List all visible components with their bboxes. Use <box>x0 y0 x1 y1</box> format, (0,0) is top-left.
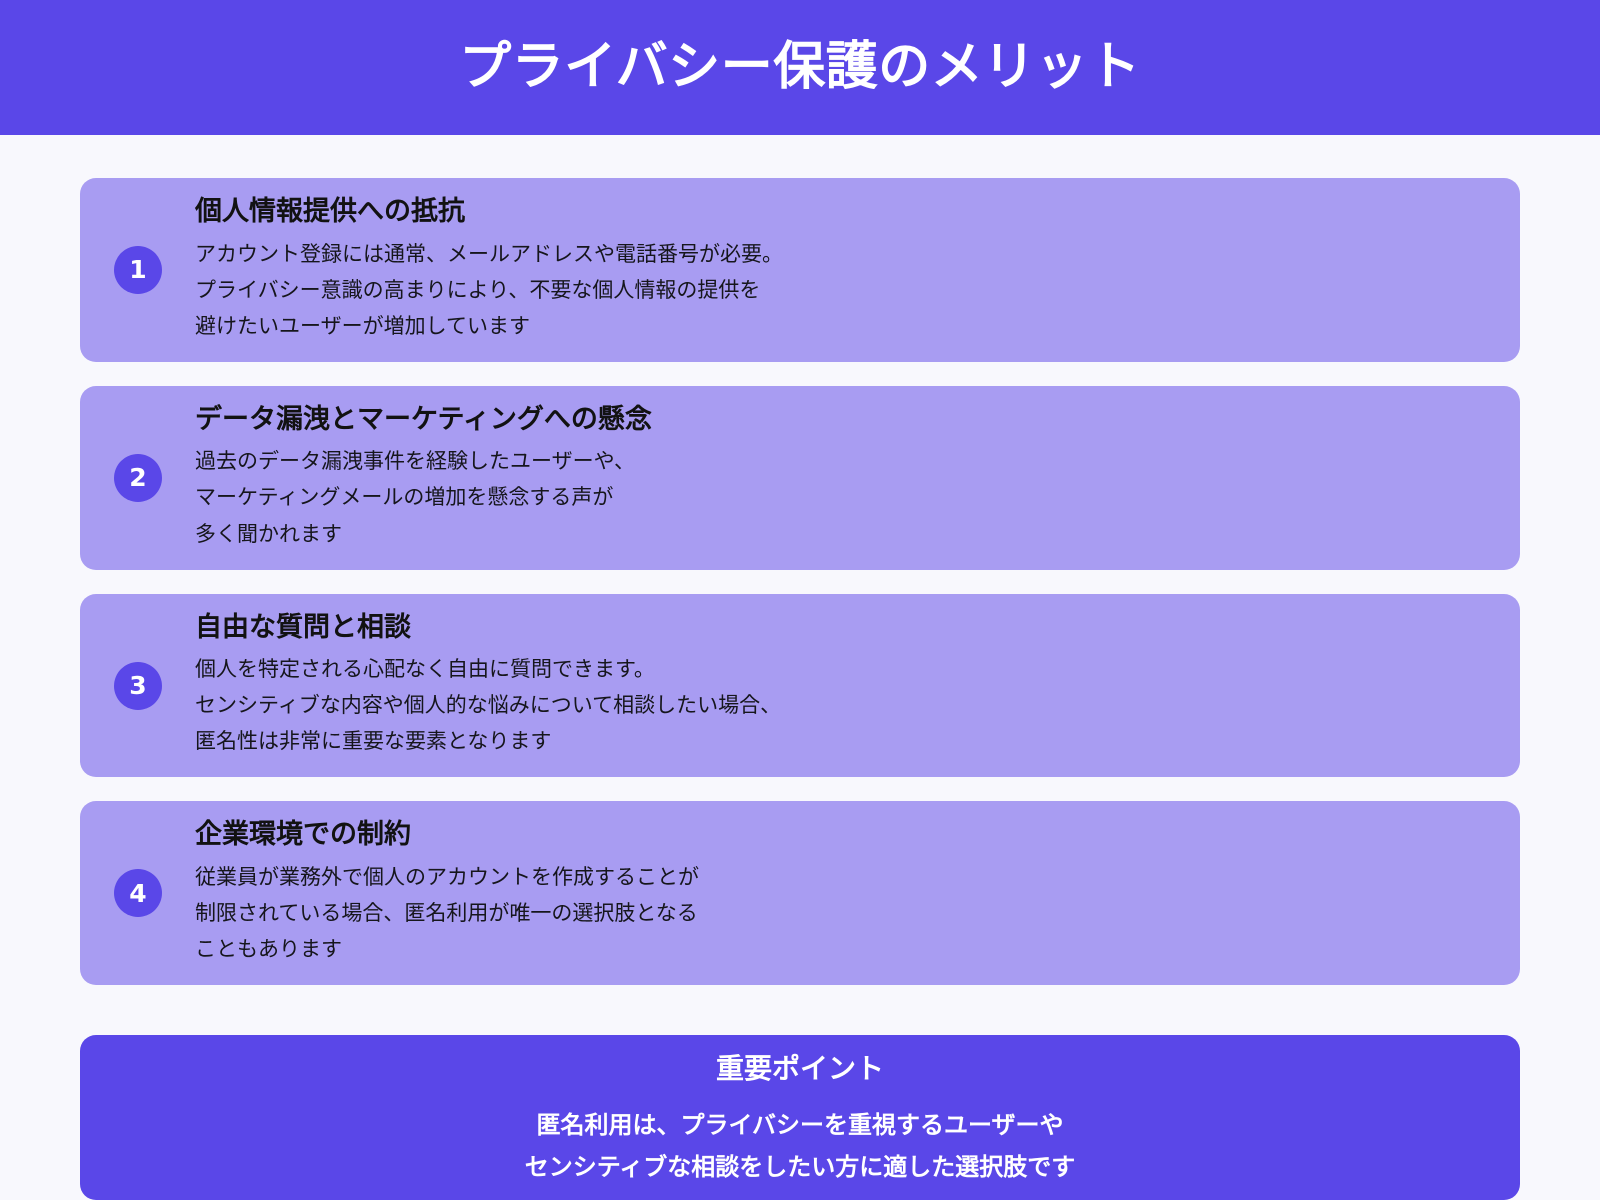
key-point-box: 重要ポイント 匿名利用は、プライバシーを重視するユーザーや センシティブな相談を… <box>80 1035 1520 1200</box>
card-body-2: 過去のデータ漏洩事件を経験したユーザーや、 マーケティングメールの増加を懸念する… <box>195 443 1492 551</box>
card-title-3: 自由な質問と相談 <box>195 608 1492 649</box>
infographic-page: プライバシー保護のメリット 1 個人情報提供への抵抗 アカウント登録には通常、メ… <box>0 0 1600 1200</box>
benefit-card-1[interactable]: 1 個人情報提供への抵抗 アカウント登録には通常、メールアドレスや電話番号が必要… <box>80 178 1520 362</box>
benefit-card-3[interactable]: 3 自由な質問と相談 個人を特定される心配なく自由に質問できます。 センシティブ… <box>80 594 1520 778</box>
page-title: プライバシー保護のメリット <box>459 39 1140 96</box>
card-body-3: 個人を特定される心配なく自由に質問できます。 センシティブな内容や個人的な悩みに… <box>195 651 1492 759</box>
card-title-1: 個人情報提供への抵抗 <box>195 192 1492 233</box>
key-point-title: 重要ポイント <box>716 1048 884 1090</box>
card-number-badge-3: 3 <box>114 662 162 710</box>
card-number-badge-2: 2 <box>114 454 162 502</box>
card-title-4: 企業環境での制約 <box>195 815 1492 856</box>
key-point-body: 匿名利用は、プライバシーを重視するユーザーや センシティブな相談をしたい方に適し… <box>525 1104 1076 1188</box>
benefit-card-4[interactable]: 4 企業環境での制約 従業員が業務外で個人のアカウントを作成することが 制限され… <box>80 801 1520 985</box>
card-body-4: 従業員が業務外で個人のアカウントを作成することが 制限されている場合、匿名利用が… <box>195 859 1492 967</box>
card-number-badge-1: 1 <box>114 246 162 294</box>
benefit-card-2[interactable]: 2 データ漏洩とマーケティングへの懸念 過去のデータ漏洩事件を経験したユーザーや… <box>80 386 1520 570</box>
benefit-card-list: 1 個人情報提供への抵抗 アカウント登録には通常、メールアドレスや電話番号が必要… <box>80 178 1520 985</box>
card-number-badge-4: 4 <box>114 869 162 917</box>
card-title-2: データ漏洩とマーケティングへの懸念 <box>195 400 1492 441</box>
card-body-1: アカウント登録には通常、メールアドレスや電話番号が必要。 プライバシー意識の高ま… <box>195 236 1492 344</box>
header-banner: プライバシー保護のメリット <box>0 0 1600 135</box>
